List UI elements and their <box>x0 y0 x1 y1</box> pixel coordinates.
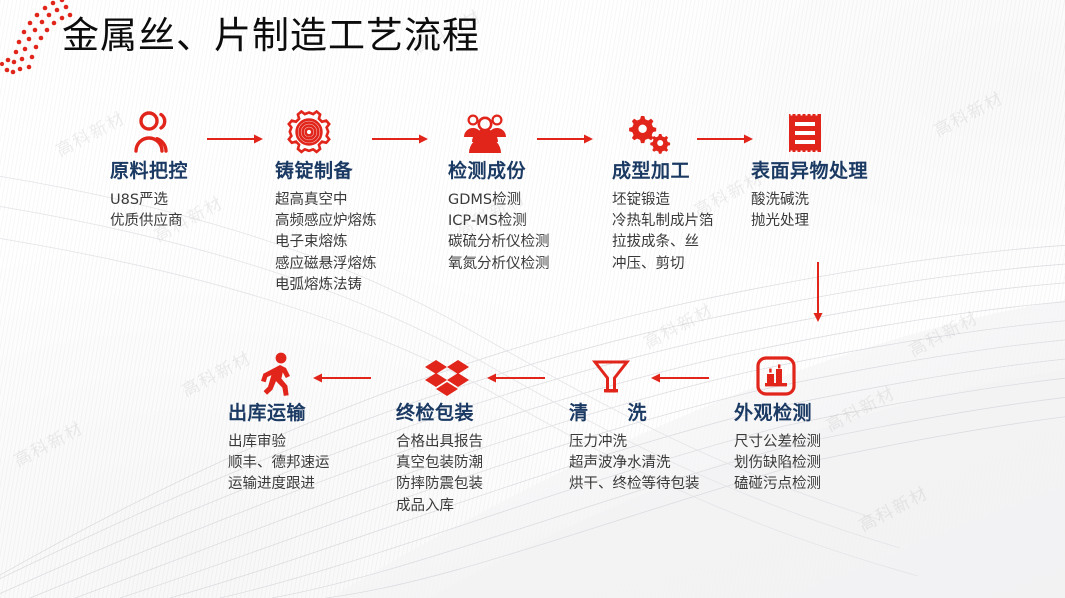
flow-step-detail-item: 烘干、终检等待包装 <box>569 474 729 495</box>
flow-step-detail-item: 运输进度跟进 <box>228 474 388 495</box>
flow-step-detail-item: 碳硫分析仪检测 <box>448 232 608 253</box>
flow-connector-arrow-left <box>651 372 709 384</box>
flow-step-detail-item: 高频感应炉熔炼 <box>275 211 435 232</box>
flow-step-detail-item: 顺丰、德邦速运 <box>228 453 388 474</box>
process-flow-diagram: 原料把控U8S严选优质供应商 铸锭制备超高真空中高频感应炉熔炼电子束熔炼感应磁悬… <box>0 0 1065 598</box>
flow-step-detail-item: 坯锭锻造 <box>612 190 772 211</box>
two-gears-icon <box>612 108 772 154</box>
gear-target-icon <box>275 108 435 154</box>
flow-step-detail-list: 超高真空中高频感应炉熔炼电子束熔炼感应磁悬浮熔炼电弧熔炼法铸 <box>275 190 435 297</box>
flow-step-detail-item: 合格出具报告 <box>396 432 556 453</box>
flow-step-title: 清 洗 <box>569 402 729 426</box>
flow-step-title: 出库运输 <box>228 402 388 426</box>
flow-connector-arrow-right <box>537 133 593 145</box>
flow-step-detail-list: 压力冲洗超声波净水清洗烘干、终检等待包装 <box>569 432 729 496</box>
flow-step-detail-item: 尺寸公差检测 <box>734 432 894 453</box>
flow-step-detail-item: 划伤缺陷检测 <box>734 453 894 474</box>
flow-step-detail-item: 冷热轧制成片箔 <box>612 211 772 232</box>
flow-connector-arrow-right <box>372 133 428 145</box>
flow-step-detail-item: ICP-MS检测 <box>448 211 608 232</box>
flow-step-detail-item: GDMS检测 <box>448 190 608 211</box>
inspection-box-icon <box>734 350 894 396</box>
flow-step-detail-item: 防摔防震包装 <box>396 474 556 495</box>
flow-step-detail-item: 真空包装防潮 <box>396 453 556 474</box>
flow-step-detail-item: 超高真空中 <box>275 190 435 211</box>
flow-step-title: 原料把控 <box>110 160 270 184</box>
flow-step-detail-list: 出库审验顺丰、德邦速运运输进度跟进 <box>228 432 388 496</box>
flow-connector-arrow-down <box>812 262 824 322</box>
flow-step-detail-item: 拉拔成条、丝 <box>612 232 772 253</box>
flow-connector-arrow-right <box>697 133 753 145</box>
flow-step-detail-item: 冲压、剪切 <box>612 254 772 275</box>
flow-step-detail-item: 磕碰污点检测 <box>734 474 894 495</box>
document-lines-icon <box>751 108 911 154</box>
flow-connector-arrow-left <box>487 372 545 384</box>
flow-step-detail-item: U8S严选 <box>110 190 270 211</box>
flow-step-title: 检测成份 <box>448 160 608 184</box>
flow-step-detail-item: 氧氮分析仪检测 <box>448 254 608 275</box>
flow-step-detail-item: 抛光处理 <box>751 211 911 232</box>
flow-step-detail-list: GDMS检测ICP-MS检测碳硫分析仪检测氧氮分析仪检测 <box>448 190 608 275</box>
flow-step-detail-list: 坯锭锻造冷热轧制成片箔拉拔成条、丝冲压、剪切 <box>612 190 772 275</box>
flow-step-detail-list: 合格出具报告真空包装防潮防摔防震包装成品入库 <box>396 432 556 517</box>
two-people-icon <box>110 108 270 154</box>
people-group-icon <box>448 108 608 154</box>
flow-step-surface-treatment[interactable]: 表面异物处理酸洗碱洗抛光处理 <box>751 108 911 232</box>
flow-step-detail-item: 成品入库 <box>396 496 556 517</box>
flow-step-title: 成型加工 <box>612 160 772 184</box>
flow-step-title: 终检包装 <box>396 402 556 426</box>
flow-step-detail-list: 尺寸公差检测划伤缺陷检测磕碰污点检测 <box>734 432 894 496</box>
flow-step-title: 外观检测 <box>734 402 894 426</box>
flow-step-title: 表面异物处理 <box>751 160 911 184</box>
flow-step-detail-list: U8S严选优质供应商 <box>110 190 270 233</box>
flow-step-detail-item: 电子束熔炼 <box>275 232 435 253</box>
flow-connector-arrow-left <box>313 372 371 384</box>
flow-step-detail-item: 优质供应商 <box>110 211 270 232</box>
flow-step-raw-material-control[interactable]: 原料把控U8S严选优质供应商 <box>110 108 270 232</box>
flow-step-detail-item: 压力冲洗 <box>569 432 729 453</box>
flow-step-detail-item: 感应磁悬浮熔炼 <box>275 254 435 275</box>
flow-step-appearance-inspection[interactable]: 外观检测尺寸公差检测划伤缺陷检测磕碰污点检测 <box>734 350 894 496</box>
flow-step-detail-list: 酸洗碱洗抛光处理 <box>751 190 911 233</box>
flow-step-title: 铸锭制备 <box>275 160 435 184</box>
flow-step-detail-item: 酸洗碱洗 <box>751 190 911 211</box>
flow-step-detail-item: 出库审验 <box>228 432 388 453</box>
flow-step-detail-item: 电弧熔炼法铸 <box>275 275 435 296</box>
flow-connector-arrow-right <box>207 133 263 145</box>
flow-step-detail-item: 超声波净水清洗 <box>569 453 729 474</box>
